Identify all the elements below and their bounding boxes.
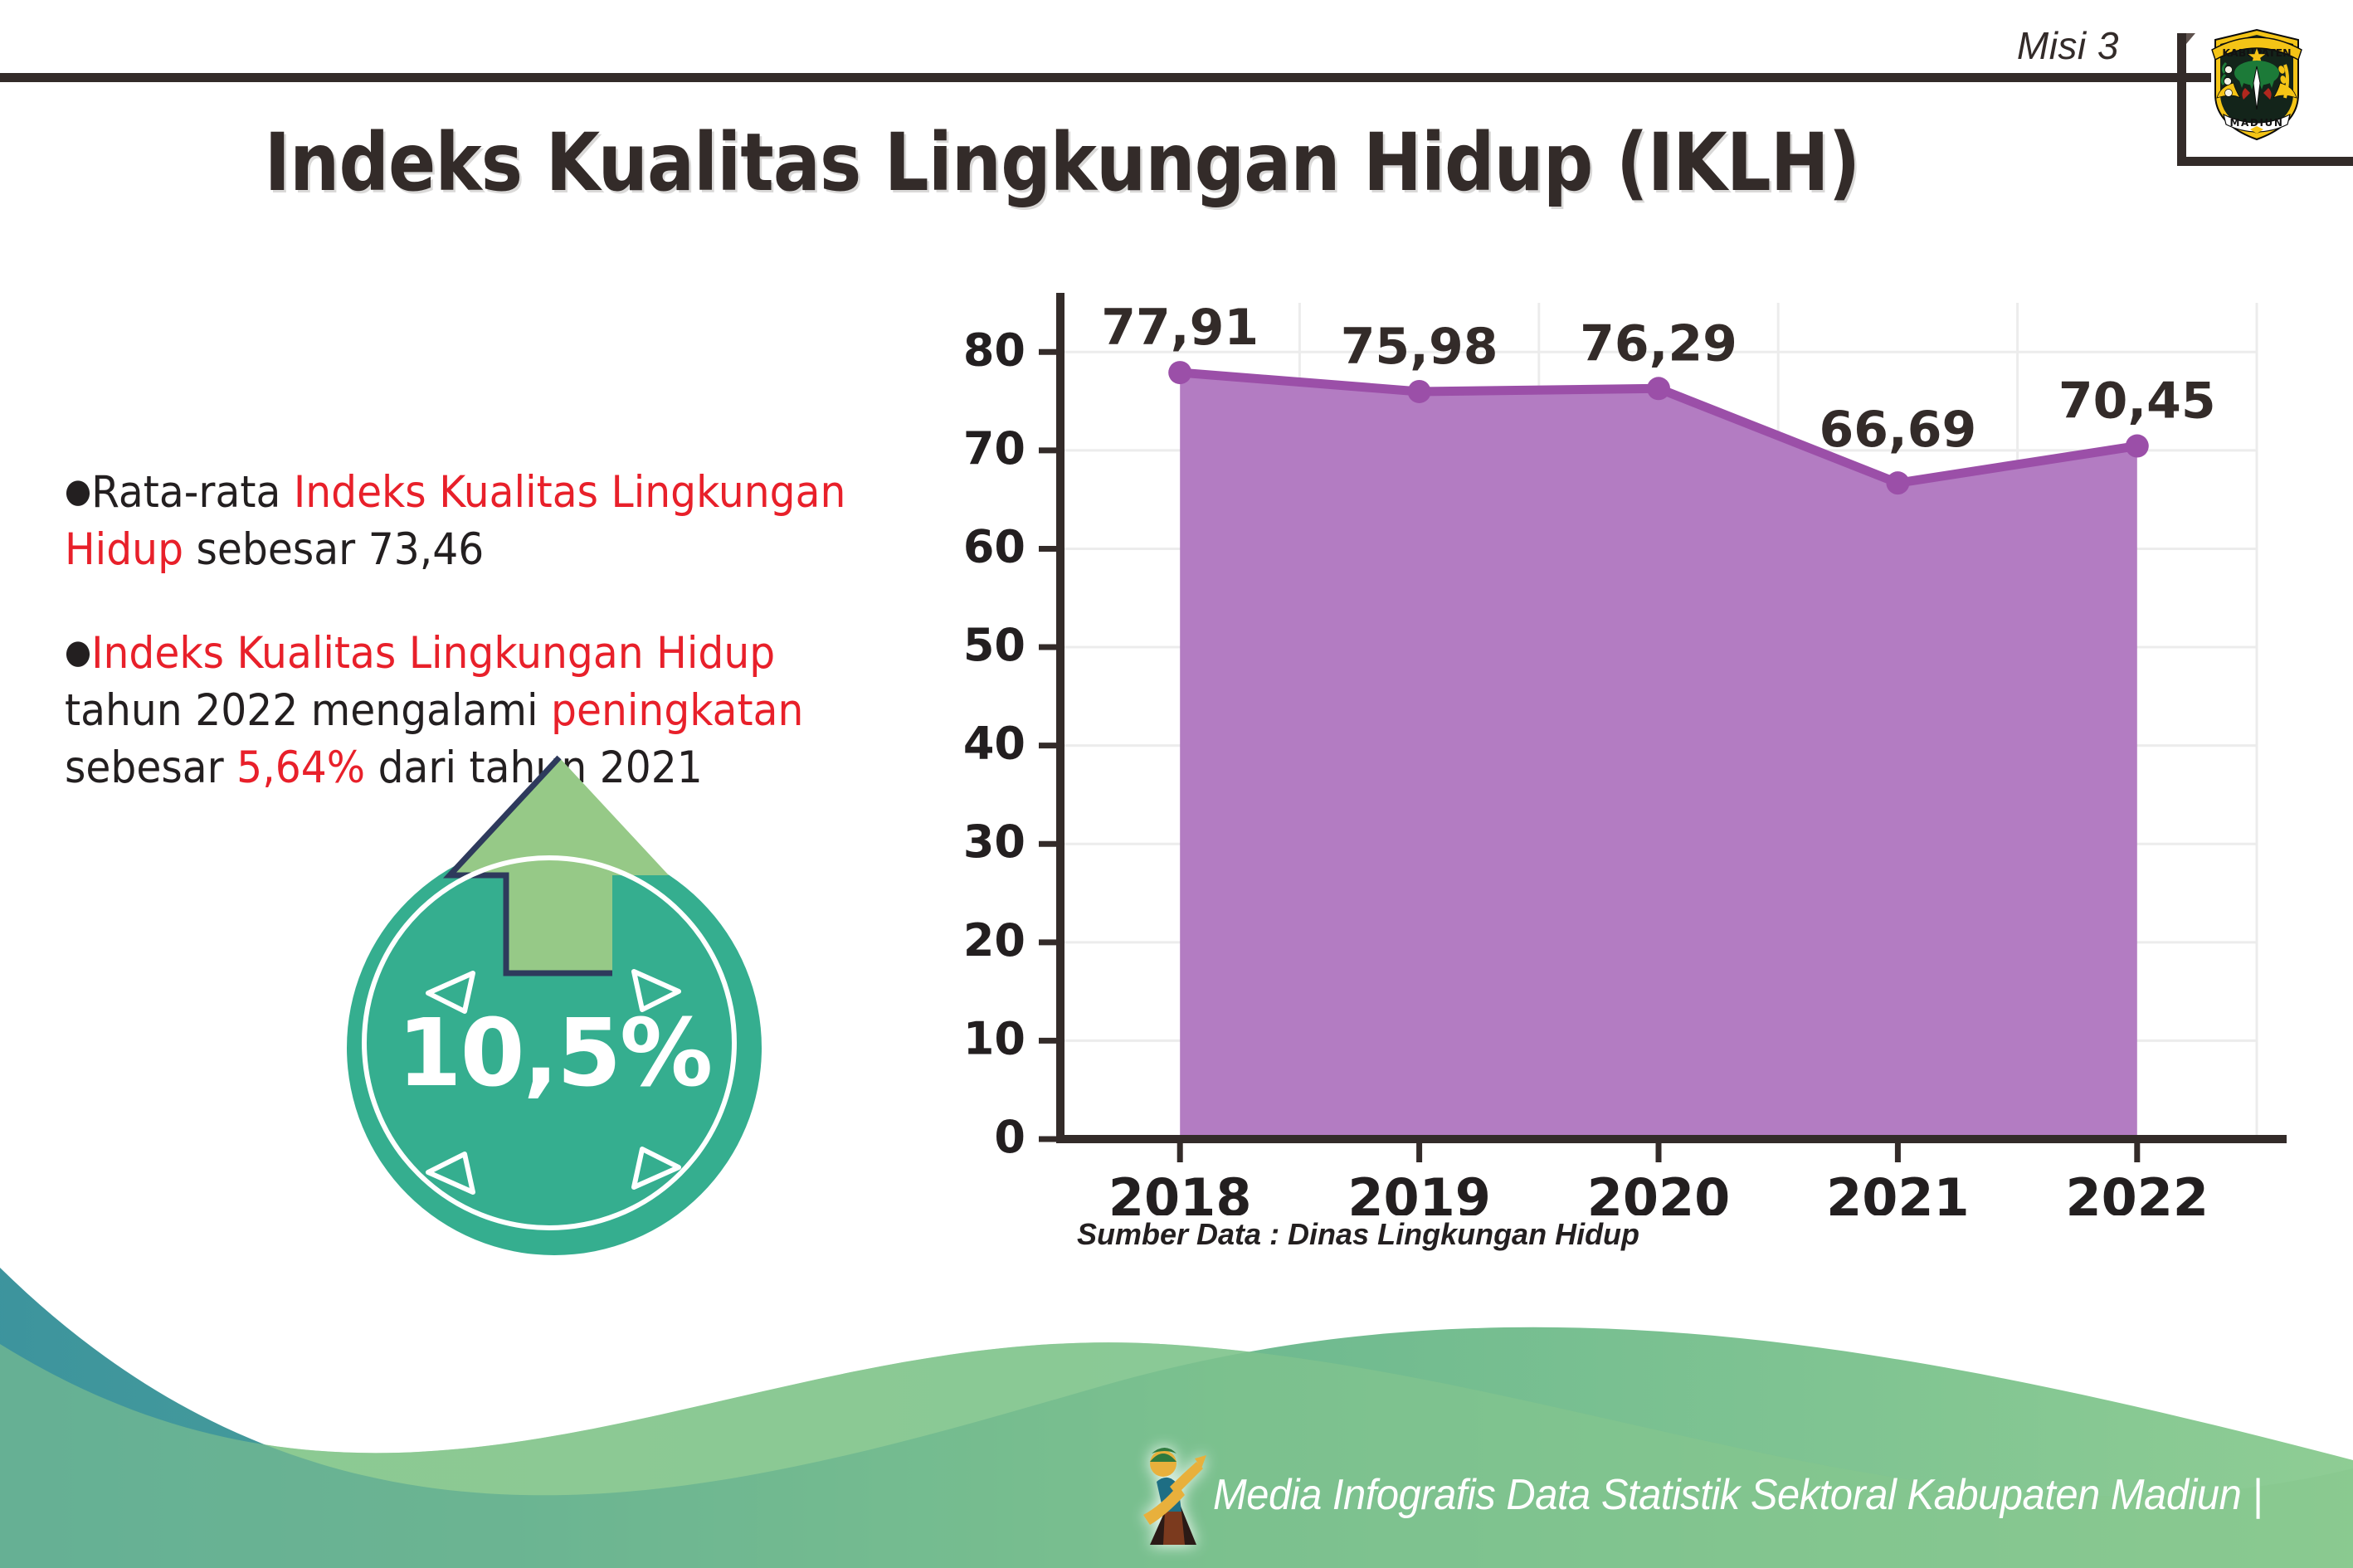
chart-point-label: 66,69 [1820,401,1977,459]
chart-point-label: 77,91 [1101,299,1259,357]
bullet-2-part-2: peningkatan [551,685,803,736]
chart-point-label: 75,98 [1341,318,1498,376]
y-tick-label: 40 [963,718,1025,770]
mission-label: Misi 3 [2017,23,2119,68]
chart-point-marker [1647,377,1670,400]
iklh-area-chart: 010203040506070802018201920202021202277,… [962,286,2290,1215]
header-divider [0,73,2211,82]
y-tick-label: 20 [963,914,1025,967]
media-infografis-figure-icon [1127,1435,1220,1551]
y-tick-label: 10 [963,1012,1025,1064]
bracket-shadow [2186,33,2195,44]
bullet-item-average: ●Rata-rata Indeks Kualitas Lingkungan Hi… [65,465,881,579]
bullet-1-part-0: Rata-rata [91,467,294,518]
chart-area-fill [1180,373,2137,1139]
bracket-horizontal [2177,157,2353,166]
chart-point-marker [1886,471,1909,494]
bullet-1-part-2: sebesar 73,46 [183,524,484,575]
bullet-2-part-1: tahun 2022 mengalami [65,685,551,736]
bullet-2-part-3: sebesar [65,743,236,793]
arrow-marker-bottom-left-icon [423,1147,481,1197]
kabupaten-madiun-emblem-icon: KABUPATEN MADIUN [2204,22,2310,144]
x-tick-label: 2022 [2066,1167,2209,1215]
footer-caption: Media Infografis Data Statistik Sektoral… [1213,1470,2263,1520]
chart-point-label: 76,29 [1580,314,1737,373]
chart-point-marker [1168,361,1191,384]
y-tick-label: 30 [963,816,1025,868]
x-tick-label: 2020 [1587,1167,1731,1215]
y-tick-label: 80 [963,324,1025,376]
bracket-vertical [2177,33,2186,166]
x-tick-label: 2021 [1826,1167,1970,1215]
bullet-2-part-0: Indeks Kualitas Lingkungan Hidup [91,628,775,679]
y-tick-label: 50 [963,619,1025,671]
x-tick-label: 2019 [1347,1167,1491,1215]
bullet-dot-icon: ● [65,472,91,510]
increase-badge: 10,5% [330,751,778,1215]
arrow-marker-bottom-right-icon [626,1142,684,1192]
badge-percent-label: 10,5% [347,1000,762,1108]
x-tick-label: 2018 [1108,1167,1252,1215]
y-tick-label: 60 [963,520,1025,572]
chart-point-label: 70,45 [2058,373,2216,431]
chart-point-marker [1408,380,1431,403]
chart-point-marker [2126,435,2149,458]
y-tick-label: 70 [963,422,1025,475]
page-title: Indeks Kualitas Lingkungan Hidup (IKLH) [128,116,1997,209]
bullet-dot-icon: ● [65,633,91,671]
y-tick-label: 0 [994,1111,1025,1163]
